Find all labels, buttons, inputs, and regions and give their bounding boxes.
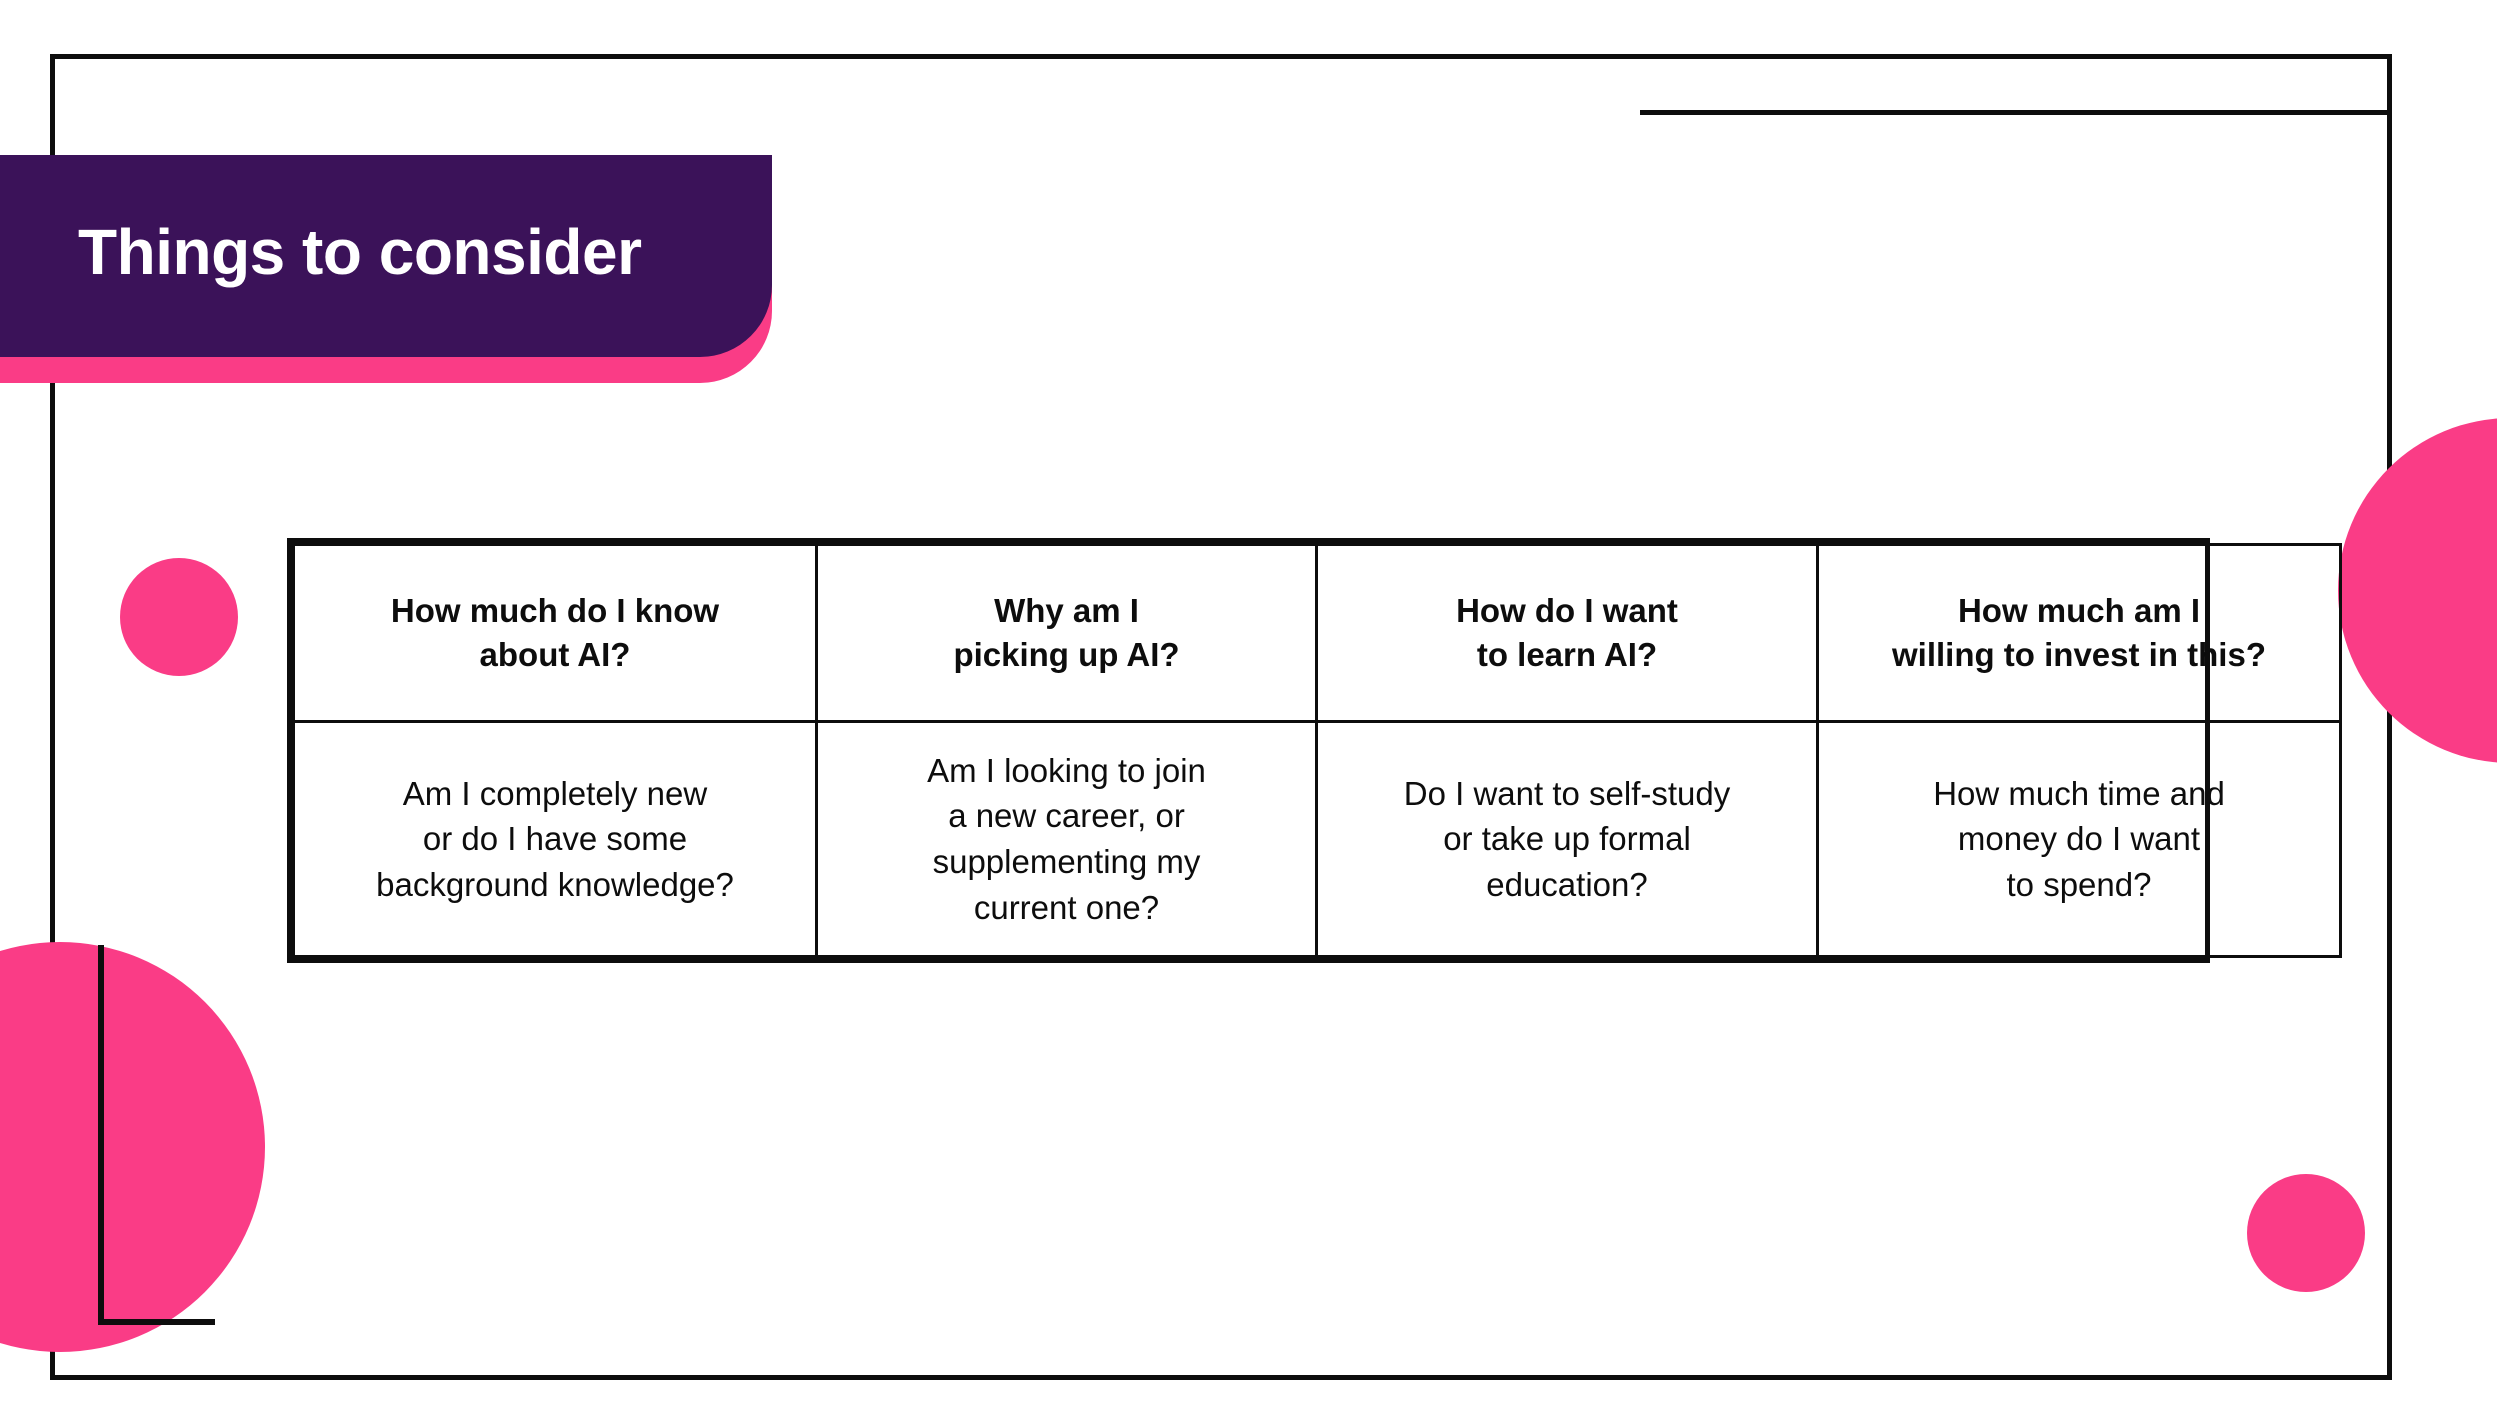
- table-body-cell-4: How much time and money do I want to spe…: [1818, 722, 2341, 957]
- table-header-label-1: How much do I know about AI?: [309, 589, 801, 676]
- table-body-cell-1: Am I completely new or do I have some ba…: [294, 722, 817, 957]
- corner-bracket-bottom-left: [98, 945, 215, 1325]
- pink-circle-left-small: [120, 558, 238, 676]
- considerations-table: How much do I know about AI? Why am I pi…: [287, 538, 2210, 963]
- table-body-cell-3: Do I want to self-study or take up forma…: [1317, 722, 1818, 957]
- table-header-cell-4: How much am I willing to invest in this?: [1818, 545, 2341, 722]
- table-body-label-2: Am I looking to join a new career, or su…: [832, 748, 1301, 930]
- table-body-label-1: Am I completely new or do I have some ba…: [309, 771, 801, 908]
- title-banner: Things to consider: [0, 155, 772, 385]
- page-title: Things to consider: [0, 215, 641, 297]
- slide-canvas: Things to consider How much do I know ab…: [0, 0, 2497, 1426]
- table-header-label-3: How do I want to learn AI?: [1332, 589, 1802, 676]
- table: How much do I know about AI? Why am I pi…: [292, 543, 2342, 958]
- table-header-cell-2: Why am I picking up AI?: [817, 545, 1317, 722]
- table-header-label-2: Why am I picking up AI?: [832, 589, 1301, 676]
- pink-circle-bottom-right-small: [2247, 1174, 2365, 1292]
- title-banner-purple: Things to consider: [0, 155, 772, 357]
- table-body-cell-2: Am I looking to join a new career, or su…: [817, 722, 1317, 957]
- table-body-label-3: Do I want to self-study or take up forma…: [1332, 771, 1802, 908]
- table-body-label-4: How much time and money do I want to spe…: [1833, 771, 2325, 908]
- table-header-row: How much do I know about AI? Why am I pi…: [294, 545, 2341, 722]
- table-header-cell-3: How do I want to learn AI?: [1317, 545, 1818, 722]
- table-header-cell-1: How much do I know about AI?: [294, 545, 817, 722]
- table-header-label-4: How much am I willing to invest in this?: [1833, 589, 2325, 676]
- accent-line-top-right: [1640, 110, 2392, 115]
- table-row: Am I completely new or do I have some ba…: [294, 722, 2341, 957]
